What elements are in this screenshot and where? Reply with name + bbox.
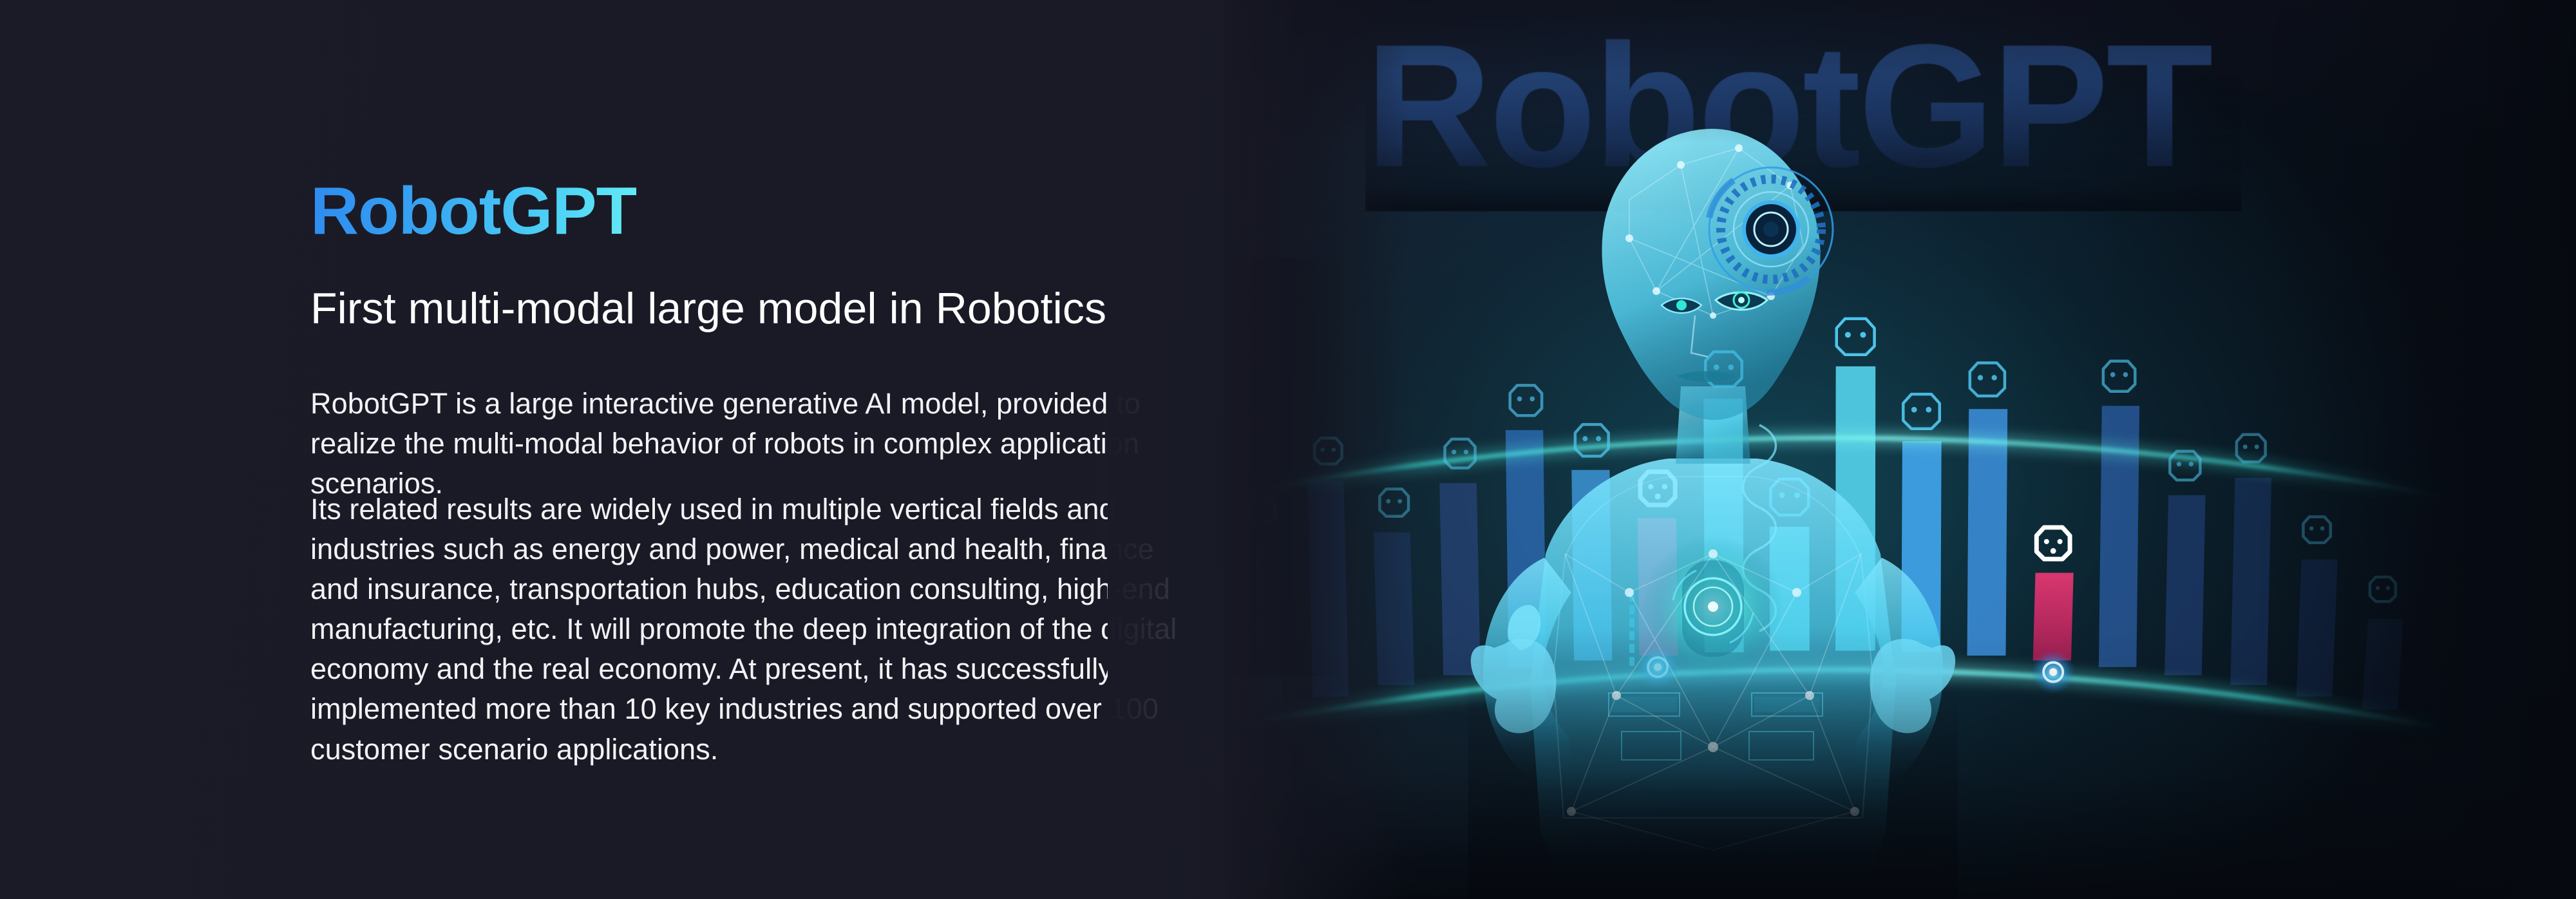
chart-bar [2164, 495, 2205, 675]
chart-bar [2033, 573, 2074, 661]
robot-head-hexagon-icon [1970, 363, 2005, 395]
hero-text-column: RobotGPT First multi-modal large model i… [310, 0, 1225, 899]
hero-subtitle: First multi-modal large model in Robotic… [310, 283, 1106, 334]
robot-head-hexagon-icon [1379, 489, 1408, 516]
hero-banner: RobotGPT First multi-modal large model i… [0, 0, 2576, 899]
robot-head-hexagon-icon [2303, 517, 2330, 543]
chart-bar [1374, 533, 1415, 685]
hero-artwork: RobotGPT [1224, 0, 2576, 899]
hero-paragraph-1: RobotGPT is a large interactive generati… [310, 384, 1207, 504]
hero-paragraph-2: Its related results are widely used in m… [310, 489, 1207, 770]
robot-head-hexagon-icon [2103, 361, 2135, 392]
chart-bar [2230, 478, 2271, 685]
glowing-node-icon [2031, 650, 2075, 694]
robot-figure-icon [1468, 103, 1958, 899]
brand-title: RobotGPT [310, 176, 636, 247]
chart-bar [2297, 560, 2338, 697]
robot-head-hexagon-icon [2036, 527, 2070, 559]
